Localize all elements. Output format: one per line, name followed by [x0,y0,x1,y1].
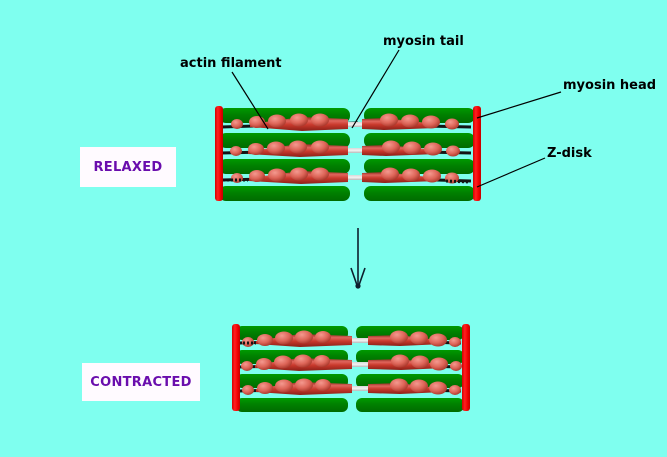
myosin-head-icon [390,379,408,392]
myosin-head-icon [268,115,286,128]
myosin-head-icon [294,355,312,368]
myosin-head-icon [290,114,308,127]
leader-line-z-disk [477,158,545,187]
z-disk [232,324,240,411]
actin-filament [219,186,350,201]
myosin-head-icon [380,114,398,127]
myosin-head-icon [429,334,447,347]
myosin-head-icon [241,361,253,371]
myosin-head-icon [449,385,461,395]
state-label-contracted-text: CONTRACTED [90,375,192,390]
myosin-head-icon [315,331,331,343]
label-actin-filament: actin filament [180,56,282,71]
myosin-head-icon [231,119,243,129]
myosin-head-icon [446,146,460,157]
myosin-head-icon [249,170,265,182]
myosin-head-icon [311,114,329,127]
actin-filament [364,186,475,201]
myosin-head-icon [315,379,331,391]
myosin-head-icon [402,169,420,182]
myosin-head-icon [382,141,400,154]
myosin-head-icon [290,168,308,181]
myosin-head-icon [401,115,419,128]
myosin-head-icon [430,358,448,371]
myosin-head-icon [295,331,313,344]
contracted-sarcomere [232,324,470,412]
myosin-head-icon [314,355,330,367]
myosin-head-icon [267,142,285,155]
myosin-head-icon [381,168,399,181]
myosin-head-icon [449,337,461,347]
myosin-head-icon [257,334,273,346]
myosin-head-icon [422,116,440,129]
state-label-contracted: CONTRACTED [82,363,200,401]
myosin-head-icon [410,332,428,345]
myosin-head-icon [242,385,254,395]
myosin-head-icon [445,119,459,130]
myosin-head-icon [289,141,307,154]
label-myosin-tail: myosin tail [383,34,464,49]
relaxed-sarcomere [215,106,481,201]
myosin-head-icon [257,382,273,394]
myosin-head-icon [423,170,441,183]
z-disk [215,106,223,201]
myosin-head-icon [249,116,265,128]
myosin-head-icon [391,355,409,368]
myosin-head-icon [275,380,293,393]
myosin-head-icon [411,356,429,369]
myosin-head-icon [390,331,408,344]
leader-line-myosin-head [477,92,561,118]
label-myosin-head: myosin head [563,78,656,93]
myosin-head-icon [311,168,329,181]
state-label-relaxed-text: RELAXED [93,160,162,175]
myosin-head-icon [429,382,447,395]
myosin-head-icon [410,380,428,393]
myosin-head-icon [230,146,242,156]
down-arrow-icon [351,228,365,289]
myosin-head-icon [275,332,293,345]
myosin-head-icon [256,358,272,370]
myosin-head-icon [295,379,313,392]
myosin-head-icon [450,361,462,371]
myosin-head-icon [424,143,442,156]
actin-filament [236,398,348,412]
myosin-head-icon [403,142,421,155]
myosin-head-icon [311,141,329,154]
myosin-head-icon [248,143,264,155]
z-disk [462,324,470,411]
myosin-head-icon [274,356,292,369]
actin-filament [356,398,464,412]
label-z-disk: Z-disk [547,146,592,161]
state-label-relaxed: RELAXED [80,147,176,187]
diagram-canvas: actin filament myosin tail myosin head Z… [0,0,667,457]
actin-filament [364,159,475,174]
myosin-head-icon [268,169,286,182]
